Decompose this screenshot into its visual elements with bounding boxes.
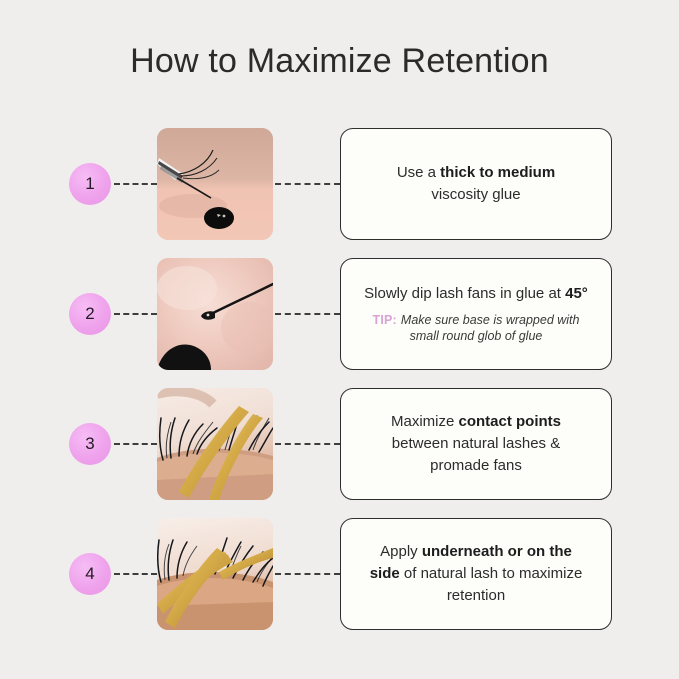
step-number-badge-2: 2	[69, 293, 111, 335]
step-card-4: Apply underneath or on theside of natura…	[340, 518, 612, 630]
step-thumbnail-4	[157, 518, 273, 630]
step-card-2: Slowly dip lash fans in glue at 45° TIP:…	[340, 258, 612, 370]
lash-fan-dipped-in-glue-icon	[157, 258, 273, 370]
connector-dashed-line-left-1	[114, 183, 157, 185]
step-card-text-2: Slowly dip lash fans in glue at 45°	[364, 283, 588, 305]
infographic-page: How to Maximize Retention 1	[0, 0, 679, 679]
connector-dashed-line-right-1	[275, 183, 340, 185]
tip-label: TIP:	[373, 313, 397, 327]
tip-line-2: small round glob of glue	[410, 329, 543, 343]
step-thumbnail-1	[157, 128, 273, 240]
step-thumbnail-2	[157, 258, 273, 370]
list-item: 3	[0, 388, 679, 500]
list-item: 4	[0, 518, 679, 630]
connector-dashed-line-right-3	[275, 443, 340, 445]
glue-drop-and-lash-on-tweezer-icon	[157, 128, 273, 240]
step-card-text-1: Use a thick to mediumviscosity glue	[397, 162, 555, 206]
list-item: 1	[0, 128, 679, 240]
step-number-badge-1: 1	[69, 163, 111, 205]
tip-line-1: Make sure base is wrapped with	[401, 313, 580, 327]
connector-dashed-line-right-2	[275, 313, 340, 315]
step-card-tip-2: TIP:Make sure base is wrapped with small…	[373, 312, 580, 346]
step-card-text-3: Maximize contact pointsbetween natural l…	[391, 411, 561, 476]
page-title: How to Maximize Retention	[0, 42, 679, 81]
step-number-badge-3: 3	[69, 423, 111, 465]
step-card-text-4: Apply underneath or on theside of natura…	[370, 541, 583, 606]
list-item: 2	[0, 258, 679, 370]
steps-list: 1	[0, 128, 679, 648]
step-card-3: Maximize contact pointsbetween natural l…	[340, 388, 612, 500]
applying-lash-under-natural-lash-icon	[157, 518, 273, 630]
connector-dashed-line-left-2	[114, 313, 157, 315]
step-card-1: Use a thick to mediumviscosity glue	[340, 128, 612, 240]
lash-extensions-with-gold-tweezers-icon	[157, 388, 273, 500]
connector-dashed-line-right-4	[275, 573, 340, 575]
step-number-badge-4: 4	[69, 553, 111, 595]
step-thumbnail-3	[157, 388, 273, 500]
connector-dashed-line-left-4	[114, 573, 157, 575]
connector-dashed-line-left-3	[114, 443, 157, 445]
